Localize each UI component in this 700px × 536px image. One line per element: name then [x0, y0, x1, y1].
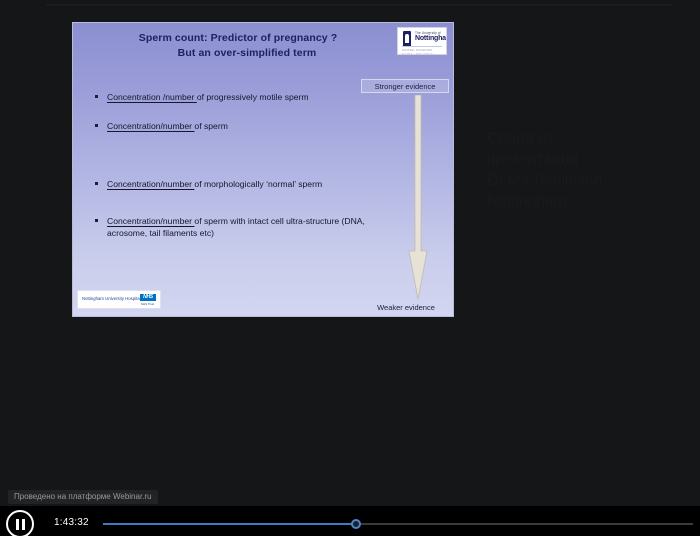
list-item: Concentration/number of sperm with intac…: [91, 215, 391, 239]
bullet-underlined-text: Concentration/number: [107, 179, 194, 189]
bullet-underlined-text: Concentration /number: [107, 92, 197, 102]
bullet-underlined-text: Concentration/number: [107, 216, 194, 226]
weaker-evidence-label: Weaker evidence: [363, 303, 449, 312]
slide-bullet-list: Concentration /number of progressively m…: [91, 91, 391, 239]
crest-icon: [403, 31, 411, 47]
progress-bar-fill: [103, 523, 357, 525]
bullet-underlined-text: Concentration/number: [107, 121, 194, 131]
uon-logo-line-3: UNITED KINGDOM · CHINA · MALAYSIA: [402, 48, 446, 55]
uon-logo-divider: [402, 46, 442, 47]
slide-caption: Слайд из презентации Dr MJ Tomlinson, No…: [487, 128, 657, 212]
caption-line-3: Dr MJ Tomlinson,: [487, 170, 657, 191]
nhs-logo-name: Nottingham University Hospitals: [82, 296, 143, 301]
caption-line-2: презентации: [487, 149, 657, 170]
slide-title-line-2: But an over-simplified term: [73, 46, 403, 61]
university-of-nottingham-logo: The University of Nottingham UNITED KING…: [397, 27, 447, 55]
caption-line-4: Nottingham: [487, 191, 657, 212]
webinar-platform-badge: Проведено на платформе Webinar.ru: [8, 490, 158, 504]
list-item: Concentration/number of sperm: [91, 120, 391, 132]
video-player: Sperm count: Predictor of pregnancy ? Bu…: [0, 0, 700, 536]
pause-icon-bar-right: [22, 519, 25, 530]
slide-title: Sperm count: Predictor of pregnancy ? Bu…: [73, 31, 403, 61]
bullet-square-icon: [95, 95, 98, 98]
nhs-trust-label: NHS Trust: [141, 302, 154, 306]
bullet-text: of progressively motile sperm: [197, 92, 309, 102]
video-stage[interactable]: Sperm count: Predictor of pregnancy ? Bu…: [46, 4, 673, 485]
current-time-label: 1:43:32: [54, 517, 89, 528]
bullet-square-icon: [95, 219, 98, 222]
progress-bar[interactable]: [103, 523, 693, 525]
progress-bar-handle[interactable]: [351, 519, 361, 529]
bullet-text: of sperm: [194, 121, 227, 131]
stage-top-edge: [46, 4, 673, 6]
player-controls: 1:43:32: [0, 506, 700, 536]
uon-logo-line-2: Nottingham: [415, 35, 447, 42]
nottingham-university-hospitals-nhs-logo: Nottingham University Hospitals NHS NHS …: [77, 290, 161, 309]
caption-line-1: Слайд из: [487, 128, 657, 149]
slide-title-line-1: Sperm count: Predictor of pregnancy ?: [139, 32, 338, 44]
bullet-square-icon: [95, 124, 98, 127]
bullet-square-icon: [95, 182, 98, 185]
pause-icon-bar-left: [16, 519, 19, 530]
downward-arrow-icon: [407, 95, 429, 301]
list-item: Concentration/number of morphologically …: [91, 178, 391, 190]
presentation-slide: Sperm count: Predictor of pregnancy ? Bu…: [72, 22, 454, 317]
list-item: Concentration /number of progressively m…: [91, 91, 391, 103]
bullet-text: of morphologically ‘normal’ sperm: [194, 179, 322, 189]
pause-button[interactable]: [6, 510, 34, 536]
nhs-mark: NHS: [140, 294, 156, 301]
